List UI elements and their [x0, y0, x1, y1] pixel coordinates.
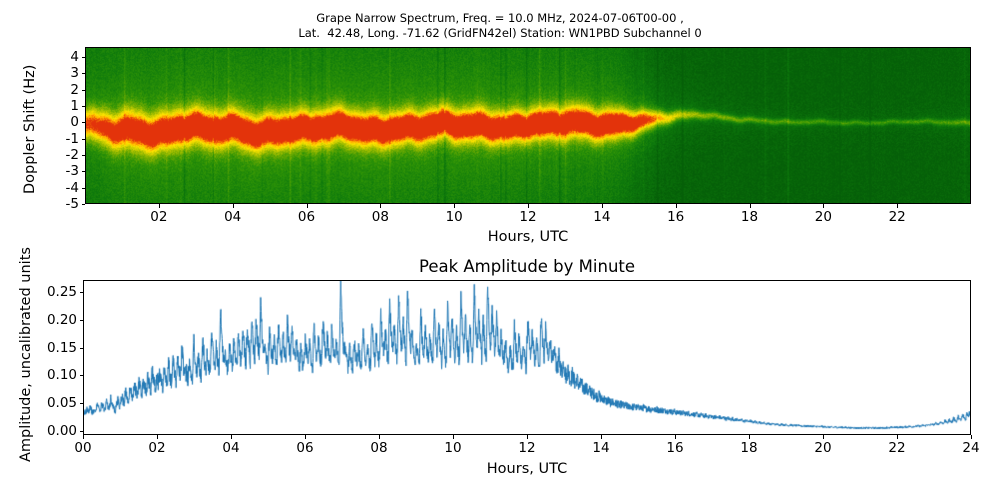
line-plot-area: [83, 280, 971, 435]
x-tick-label: 10: [444, 440, 461, 456]
tick-mark: [82, 155, 86, 156]
y-tick-label: -1: [0, 131, 79, 147]
tick-mark: [749, 435, 750, 439]
tick-mark: [823, 435, 824, 439]
y-tick-label: 3: [0, 65, 79, 81]
x-tick-label: 04: [224, 209, 241, 225]
x-tick-label: 00: [74, 440, 91, 456]
x-tick-label: 20: [815, 209, 832, 225]
y-tick-label: -2: [0, 147, 79, 163]
y-tick-label: -3: [0, 163, 79, 179]
y-tick-label: 0.10: [0, 367, 77, 383]
tick-mark: [379, 435, 380, 439]
tick-mark: [602, 204, 603, 208]
x-tick-label: 16: [666, 440, 683, 456]
y-tick-label: 1: [0, 98, 79, 114]
x-tick-label: 06: [298, 209, 315, 225]
tick-mark: [675, 435, 676, 439]
x-tick-label: 08: [370, 440, 387, 456]
line-plot-y-axis-label: Amplitude, uncalibrated units: [18, 247, 34, 462]
y-tick-label: 0.00: [0, 423, 77, 439]
line-plot-x-axis-label: Hours, UTC: [487, 461, 567, 477]
x-tick-label: 14: [593, 209, 610, 225]
x-tick-label: 14: [592, 440, 609, 456]
x-tick-label: 12: [519, 209, 536, 225]
matplotlib-figure: Grape Narrow Spectrum, Freq. = 10.0 MHz,…: [0, 0, 1000, 500]
tick-mark: [380, 204, 381, 208]
tick-mark: [82, 122, 86, 123]
tick-mark: [80, 375, 84, 376]
x-tick-label: 08: [372, 209, 389, 225]
y-tick-label: 0.15: [0, 340, 77, 356]
tick-mark: [897, 435, 898, 439]
x-tick-label: 04: [222, 440, 239, 456]
tick-mark: [231, 435, 232, 439]
tick-mark: [750, 204, 751, 208]
y-tick-label: -5: [0, 196, 79, 212]
tick-mark: [82, 139, 86, 140]
x-tick-label: 10: [446, 209, 463, 225]
tick-mark: [453, 435, 454, 439]
tick-mark: [676, 204, 677, 208]
x-tick-label: 16: [667, 209, 684, 225]
x-tick-label: 22: [889, 209, 906, 225]
tick-mark: [897, 204, 898, 208]
tick-mark: [82, 73, 86, 74]
x-tick-label: 12: [518, 440, 535, 456]
tick-mark: [82, 171, 86, 172]
tick-mark: [82, 106, 86, 107]
spectrogram-image: [86, 48, 970, 203]
tick-mark: [157, 435, 158, 439]
spectrogram-y-axis-label: Doppler Shift (Hz): [22, 64, 38, 193]
peak-amplitude-line: [84, 281, 970, 434]
tick-mark: [527, 435, 528, 439]
y-tick-label: -4: [0, 180, 79, 196]
y-tick-label: 0: [0, 114, 79, 130]
tick-mark: [233, 204, 234, 208]
x-tick-label: 24: [962, 440, 979, 456]
tick-mark: [601, 435, 602, 439]
tick-mark: [82, 188, 86, 189]
tick-mark: [80, 348, 84, 349]
tick-mark: [80, 431, 84, 432]
figure-suptitle-line1: Grape Narrow Spectrum, Freq. = 10.0 MHz,…: [0, 11, 1000, 26]
tick-mark: [82, 90, 86, 91]
tick-mark: [82, 204, 86, 205]
x-tick-label: 02: [148, 440, 165, 456]
y-tick-label: 4: [0, 49, 79, 65]
tick-mark: [159, 204, 160, 208]
x-tick-label: 06: [296, 440, 313, 456]
x-tick-label: 02: [150, 209, 167, 225]
y-tick-label: 0.05: [0, 395, 77, 411]
figure-suptitle-line2: Lat. 42.48, Long. -71.62 (GridFN42el) St…: [0, 26, 1000, 41]
spectrogram-plot-area: [85, 47, 971, 204]
tick-mark: [82, 57, 86, 58]
x-tick-label: 20: [814, 440, 831, 456]
tick-mark: [823, 204, 824, 208]
y-tick-label: 0.25: [0, 284, 77, 300]
x-tick-label: 18: [740, 440, 757, 456]
tick-mark: [305, 435, 306, 439]
tick-mark: [83, 435, 84, 439]
y-tick-label: 2: [0, 82, 79, 98]
x-tick-label: 22: [888, 440, 905, 456]
tick-mark: [80, 403, 84, 404]
y-tick-label: 0.20: [0, 312, 77, 328]
tick-mark: [307, 204, 308, 208]
tick-mark: [80, 320, 84, 321]
spectrogram-x-axis-label: Hours, UTC: [488, 229, 568, 245]
tick-mark: [528, 204, 529, 208]
tick-mark: [454, 204, 455, 208]
line-plot-title: Peak Amplitude by Minute: [419, 257, 635, 276]
tick-mark: [971, 435, 972, 439]
x-tick-label: 18: [741, 209, 758, 225]
tick-mark: [80, 292, 84, 293]
